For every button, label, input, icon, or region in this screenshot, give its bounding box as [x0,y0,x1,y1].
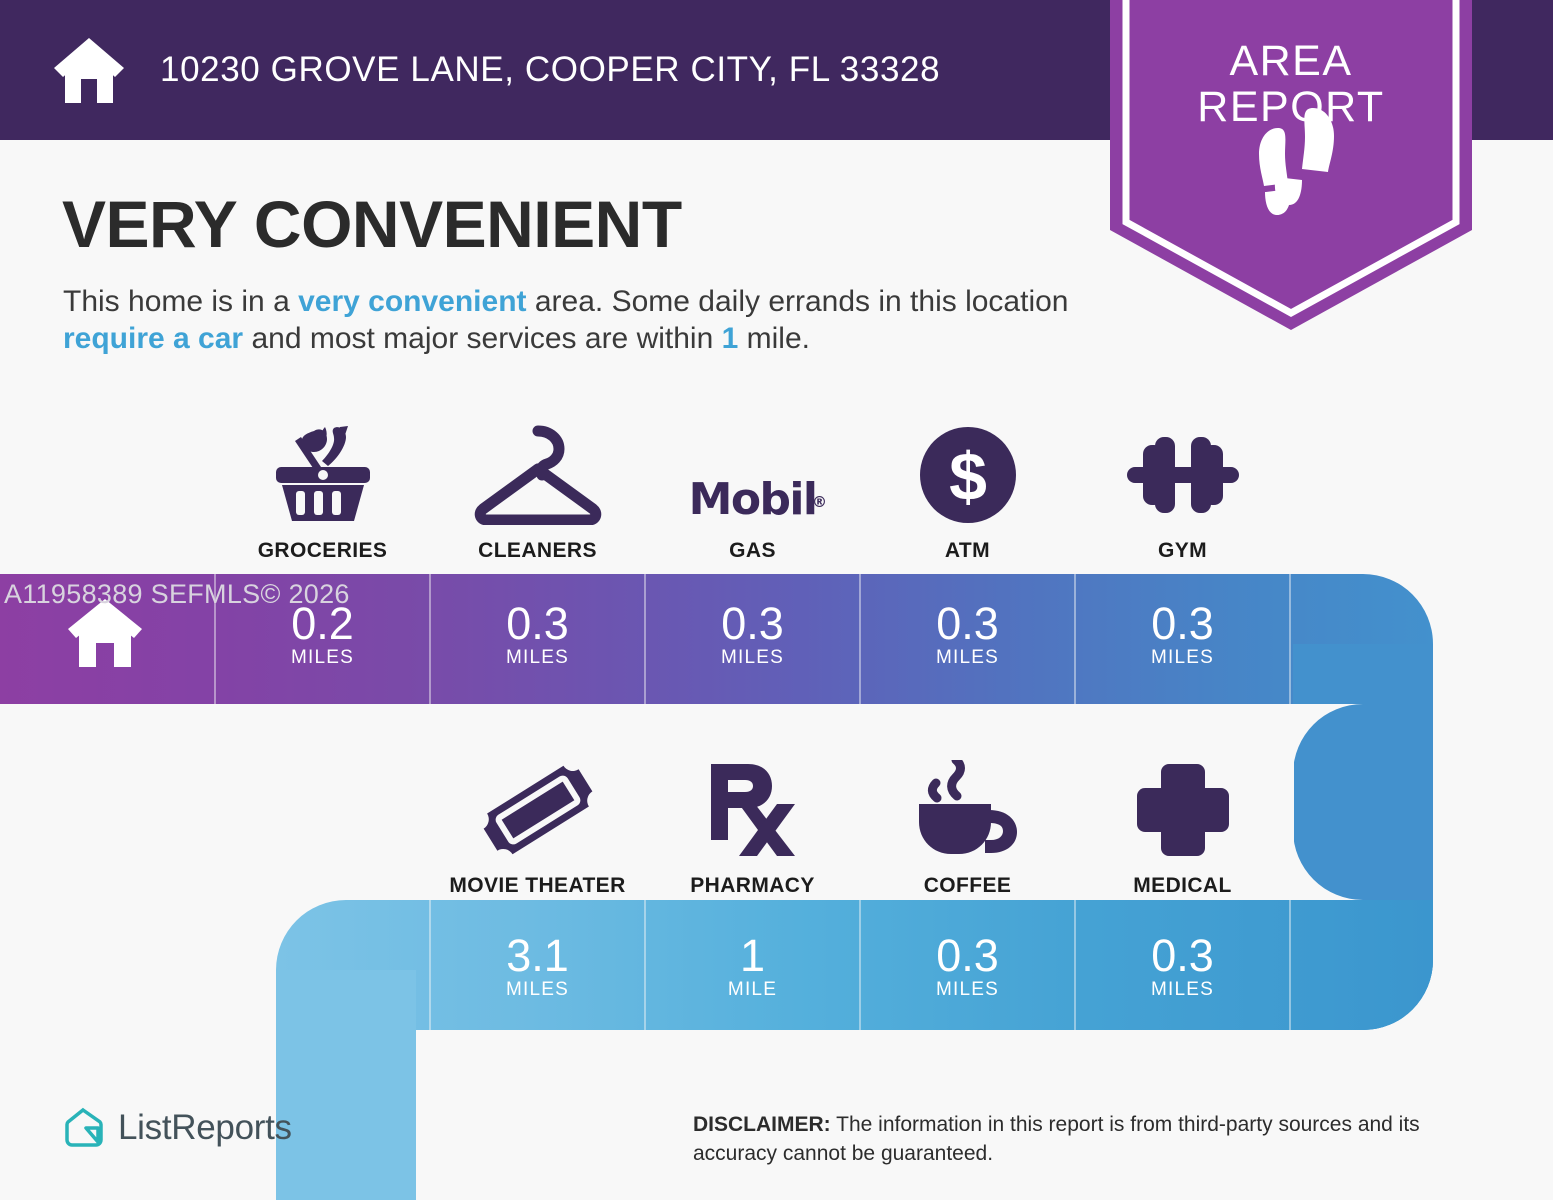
amenity-gas: Mobil® GAS [645,420,860,563]
amenity-movie-theater: MOVIE THEATER [430,755,645,898]
amenity-gym: GYM [1075,420,1290,563]
listreports-house-icon [62,1106,106,1150]
distance-unit: MILES [860,979,1075,1001]
amenity-medical: MEDICAL [1075,755,1290,898]
lede-part-4: mile. [738,322,810,355]
page-title: VERY CONVENIENT [62,186,682,262]
distance-unit: MILE [645,979,860,1001]
distance-unit: MILES [860,647,1075,669]
gas-brand-name: Mobil [689,474,817,525]
lede-part-1: This home is in a [63,285,298,318]
lede-highlight-1: very convenient [298,285,526,318]
distance-unit: MILES [215,647,430,669]
badge-line-2: REPORT [1110,84,1472,130]
distance-value: 0.3 [1075,932,1290,979]
distance-value: 3.1 [430,932,645,979]
lede-highlight-2: require a car [63,322,243,355]
amenity-cleaners: CLEANERS [430,420,645,563]
amenity-label: ATM [945,539,990,563]
badge-line-1: AREA [1110,38,1472,84]
amenity-label: GYM [1158,539,1207,563]
distance-pharmacy: 1 MILE [645,932,860,1001]
amenity-label: GROCERIES [258,539,388,563]
property-address: 10230 GROVE LANE, COOPER CITY, FL 33328 [160,50,940,90]
basket-icon [268,420,378,525]
distance-gym: 0.3 MILES [1075,600,1290,669]
amenity-label: MOVIE THEATER [449,874,625,898]
summary-text: This home is in a very convenient area. … [63,283,1103,357]
distance-groceries: 0.2 MILES [215,600,430,669]
badge-label: AREA REPORT [1110,38,1472,130]
disclaimer-label: DISCLAIMER: [693,1113,831,1136]
amenity-atm: $ ATM [860,420,1075,563]
distance-value: 1 [645,932,860,979]
distance-medical: 0.3 MILES [1075,932,1290,1001]
amenity-pharmacy: PHARMACY [645,755,860,898]
amenity-icons-row-1: GROCERIES CLEANERS Mobil® GAS $ [215,420,1290,563]
lede-part-3: and most major services are within [243,322,722,355]
distance-unit: MILES [430,647,645,669]
listreports-logo: ListReports [62,1106,292,1150]
logo-text: ListReports [118,1108,292,1148]
area-report-page: 10230 GROVE LANE, COOPER CITY, FL 33328 … [0,0,1553,1200]
distance-unit: MILES [645,647,860,669]
dollar-circle-icon: $ [918,420,1018,525]
lede-part-2: area. Some daily errands in this locatio… [527,285,1069,318]
distance-value: 0.3 [645,600,860,647]
amenity-label: GAS [729,539,776,563]
distance-value: 0.3 [1075,600,1290,647]
rx-icon [703,755,803,860]
amenity-label: CLEANERS [478,539,597,563]
distance-unit: MILES [1075,979,1290,1001]
distance-unit: MILES [1075,647,1290,669]
amenity-label: COFFEE [924,874,1012,898]
distance-cleaners: 0.3 MILES [430,600,645,669]
distance-gas: 0.3 MILES [645,600,860,669]
disclaimer: DISCLAIMER: The information in this repo… [693,1110,1503,1168]
distance-value: 0.2 [215,600,430,647]
ticket-icon [483,755,593,860]
svg-text:$: $ [949,439,987,515]
amenity-groceries: GROCERIES [215,420,430,563]
hanger-icon [473,420,603,525]
amenity-coffee: COFFEE [860,755,1075,898]
distance-unit: MILES [430,979,645,1001]
distance-atm: 0.3 MILES [860,600,1075,669]
amenity-icons-row-2: MOVIE THEATER PHARMACY [430,755,1290,898]
home-icon [52,35,126,105]
medical-cross-icon [1133,755,1233,860]
dumbbell-icon [1123,420,1243,525]
distance-movie-theater: 3.1 MILES [430,932,645,1001]
amenity-label: PHARMACY [690,874,815,898]
distance-value: 0.3 [430,600,645,647]
lede-highlight-3: 1 [722,322,739,355]
amenity-label: MEDICAL [1133,874,1231,898]
mobil-logo: Mobil® [689,420,817,525]
coffee-icon [913,755,1023,860]
distance-value: 0.3 [860,932,1075,979]
distance-coffee: 0.3 MILES [860,932,1075,1001]
trademark-symbol: ® [812,477,825,527]
area-report-badge: AREA REPORT [1110,0,1472,330]
distance-value: 0.3 [860,600,1075,647]
